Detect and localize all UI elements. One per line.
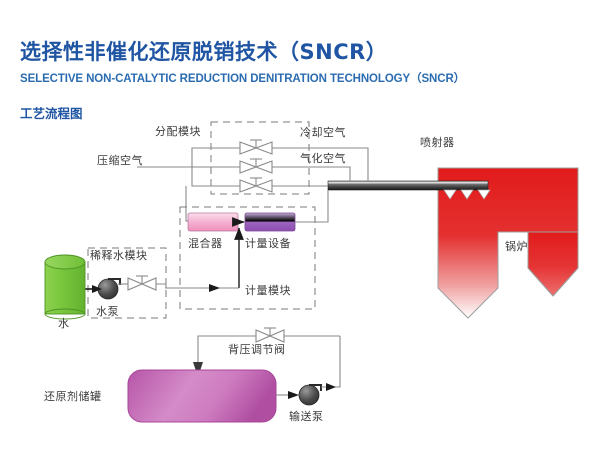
transfer-pump-icon xyxy=(299,385,319,405)
water-tank-group xyxy=(45,255,85,319)
metering-module-group xyxy=(165,207,315,309)
valve-mixer-feed xyxy=(211,178,328,192)
transfer-pump-discharge-line xyxy=(321,336,340,387)
reagent-to-lance-line xyxy=(315,190,328,222)
mixer-vessel xyxy=(188,213,238,231)
compressed-air-riser xyxy=(192,148,211,167)
water-tank-top xyxy=(45,255,85,269)
label-compressed-air: 压缩空气 xyxy=(97,152,143,168)
compressed-air-drop xyxy=(192,167,211,186)
label-metering-module: 计量模块 xyxy=(245,282,291,298)
label-water: 水 xyxy=(58,315,70,331)
reductant-tank-group xyxy=(128,370,276,422)
valve-gasification-air xyxy=(211,159,309,173)
label-back-pressure-valve: 背压调节阀 xyxy=(228,341,286,357)
reductant-tank-body xyxy=(128,370,276,422)
label-cooling-air: 冷却空气 xyxy=(300,124,346,140)
label-gasification-air: 气化空气 xyxy=(300,150,346,166)
injector-lance-group xyxy=(328,181,490,199)
label-injector: 喷射器 xyxy=(420,134,455,150)
boiler-right-column-tint xyxy=(528,232,578,296)
label-distribution-module: 分配模块 xyxy=(155,123,201,139)
distribution-module-boundary xyxy=(211,122,309,194)
valve-cooling-air xyxy=(211,140,309,154)
water-tank-body xyxy=(45,262,85,314)
label-transfer-pump: 输送泵 xyxy=(289,408,324,424)
gasification-air-line xyxy=(309,167,350,181)
injector-lance xyxy=(328,181,488,190)
metering-device-vessel xyxy=(245,213,295,231)
label-water-pump: 水泵 xyxy=(96,303,119,319)
valve-dilution-water xyxy=(118,276,166,290)
label-mixer: 混合器 xyxy=(188,235,223,251)
label-reductant-tank: 还原剂储罐 xyxy=(44,388,102,404)
label-metering-device: 计量设备 xyxy=(245,235,291,251)
label-dilution-water-module: 稀释水模块 xyxy=(90,247,148,263)
process-flow-diagram xyxy=(0,0,600,450)
label-boiler: 锅炉 xyxy=(505,238,528,254)
transfer-pump-group xyxy=(276,336,345,405)
